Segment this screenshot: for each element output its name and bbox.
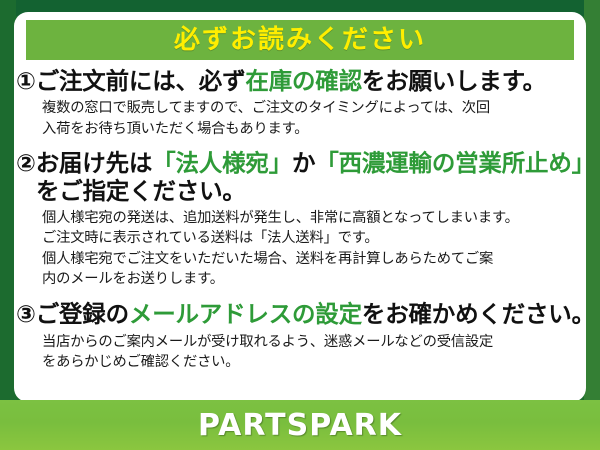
notice-item: ①ご注文前には、必ず在庫の確認をお願いします。複数の窓口で販売してますので、ご注… [16, 68, 586, 139]
notice-item-heading: ①ご注文前には、必ず在庫の確認をお願いします。 [16, 68, 586, 95]
frame-right-border [584, 0, 600, 400]
description-line: 入荷をお待ち頂いただく場合もあります。 [42, 119, 586, 139]
item-number-marker: ② [16, 149, 36, 177]
header-bar: 必ずお読みください [26, 20, 574, 60]
notice-item-heading-line2: をご指定ください。 [16, 178, 586, 205]
heading-text: をお確かめください。 [362, 300, 595, 328]
notice-items-list: ①ご注文前には、必ず在庫の確認をお願いします。複数の窓口で販売してますので、ご注… [16, 68, 586, 374]
heading-highlight-text: 「法人様宛」 [152, 149, 292, 177]
notice-item: ②お届け先は「法人様宛」か「西濃運輸の営業所止め」をご指定ください。個人様宅宛の… [16, 150, 586, 289]
notice-item-heading: ③ご登録のメールアドレスの設定をお確かめください。 [16, 301, 586, 328]
brand-logo: PARTSPARK [198, 408, 402, 443]
heading-text: ご登録の [36, 300, 129, 328]
notice-banner: 必ずお読みください ①ご注文前には、必ず在庫の確認をお願いします。複数の窓口で販… [0, 0, 600, 450]
footer-bar: PARTSPARK [0, 400, 600, 450]
description-line: 当店からのご案内メールが受け取れるよう、迷惑メールなどの受信設定 [42, 332, 586, 352]
description-line: 内のメールをお送りします。 [42, 269, 586, 289]
heading-highlight-text: 「西濃運輸の営業所止め」 [315, 149, 595, 177]
description-line: 個人様宅宛の発送は、追加送料が発生し、非常に高額となってしまいます。 [42, 208, 586, 228]
notice-item-description: 複数の窓口で販売してますので、ご注文のタイミングによっては、次回入荷をお待ち頂い… [16, 95, 586, 139]
notice-item-heading: ②お届け先は「法人様宛」か「西濃運輸の営業所止め」 [16, 150, 586, 177]
notice-item-description: 当店からのご案内メールが受け取れるよう、迷惑メールなどの受信設定をあらかじめご確… [16, 329, 586, 373]
heading-text: ご注文前には、必ず [36, 67, 246, 95]
heading-highlight-text: 在庫の確認 [245, 67, 362, 95]
notice-item: ③ご登録のメールアドレスの設定をお確かめください。当店からのご案内メールが受け取… [16, 301, 586, 372]
heading-text: か [292, 149, 315, 177]
header-title: 必ずお読みください [174, 27, 426, 53]
description-line: をあらかじめご確認ください。 [42, 352, 586, 372]
description-line: 個人様宅宛でご注文をいただいた場合、送料を再計算しあらためてご案 [42, 249, 586, 269]
notice-item-description: 個人様宅宛の発送は、追加送料が発生し、非常に高額となってしまいます。ご注文時に表… [16, 205, 586, 289]
heading-text: お届け先は [36, 149, 153, 177]
description-line: ご注文時に表示されている送料は「法人送料」です。 [42, 228, 586, 248]
description-line: 複数の窓口で販売してますので、ご注文のタイミングによっては、次回 [42, 98, 586, 118]
item-number-marker: ③ [16, 300, 36, 328]
heading-highlight-text: メールアドレスの設定 [129, 300, 362, 328]
item-number-marker: ① [16, 67, 36, 95]
heading-text: をお願いします。 [362, 67, 546, 95]
